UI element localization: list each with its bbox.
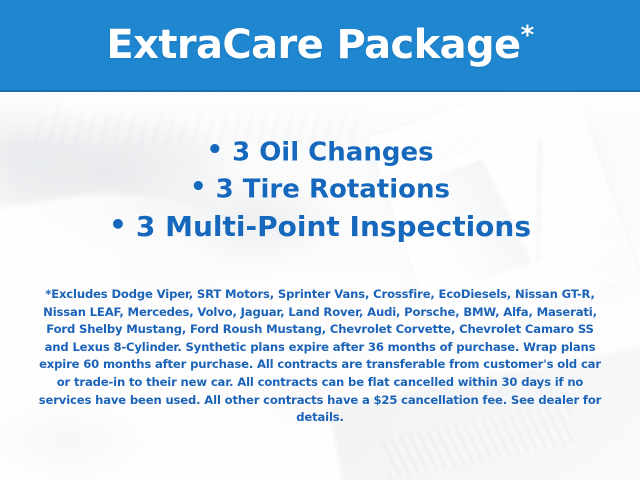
- page-title: ExtraCare Package*: [106, 25, 533, 65]
- extracare-package-promo-card: ExtraCare Package* •3 Oil Changes •3 Tir…: [0, 0, 640, 480]
- page-title-asterisk: *: [521, 21, 534, 51]
- list-item: •3 Tire Rotations: [0, 175, 640, 204]
- page-title-text: ExtraCare Package: [106, 22, 520, 68]
- feature-label: 3 Oil Changes: [232, 137, 434, 167]
- feature-list: •3 Oil Changes •3 Tire Rotations •3 Mult…: [0, 138, 640, 242]
- header-banner: ExtraCare Package*: [0, 0, 640, 92]
- bullet-icon: •: [109, 210, 127, 240]
- feature-label: 3 Tire Rotations: [216, 174, 450, 204]
- disclaimer-text: *Excludes Dodge Viper, SRT Motors, Sprin…: [34, 286, 606, 427]
- list-item: •3 Multi-Point Inspections: [0, 211, 640, 242]
- bullet-icon: •: [206, 136, 223, 164]
- list-item: •3 Oil Changes: [0, 138, 640, 167]
- bullet-icon: •: [190, 173, 207, 201]
- feature-label: 3 Multi-Point Inspections: [136, 210, 531, 243]
